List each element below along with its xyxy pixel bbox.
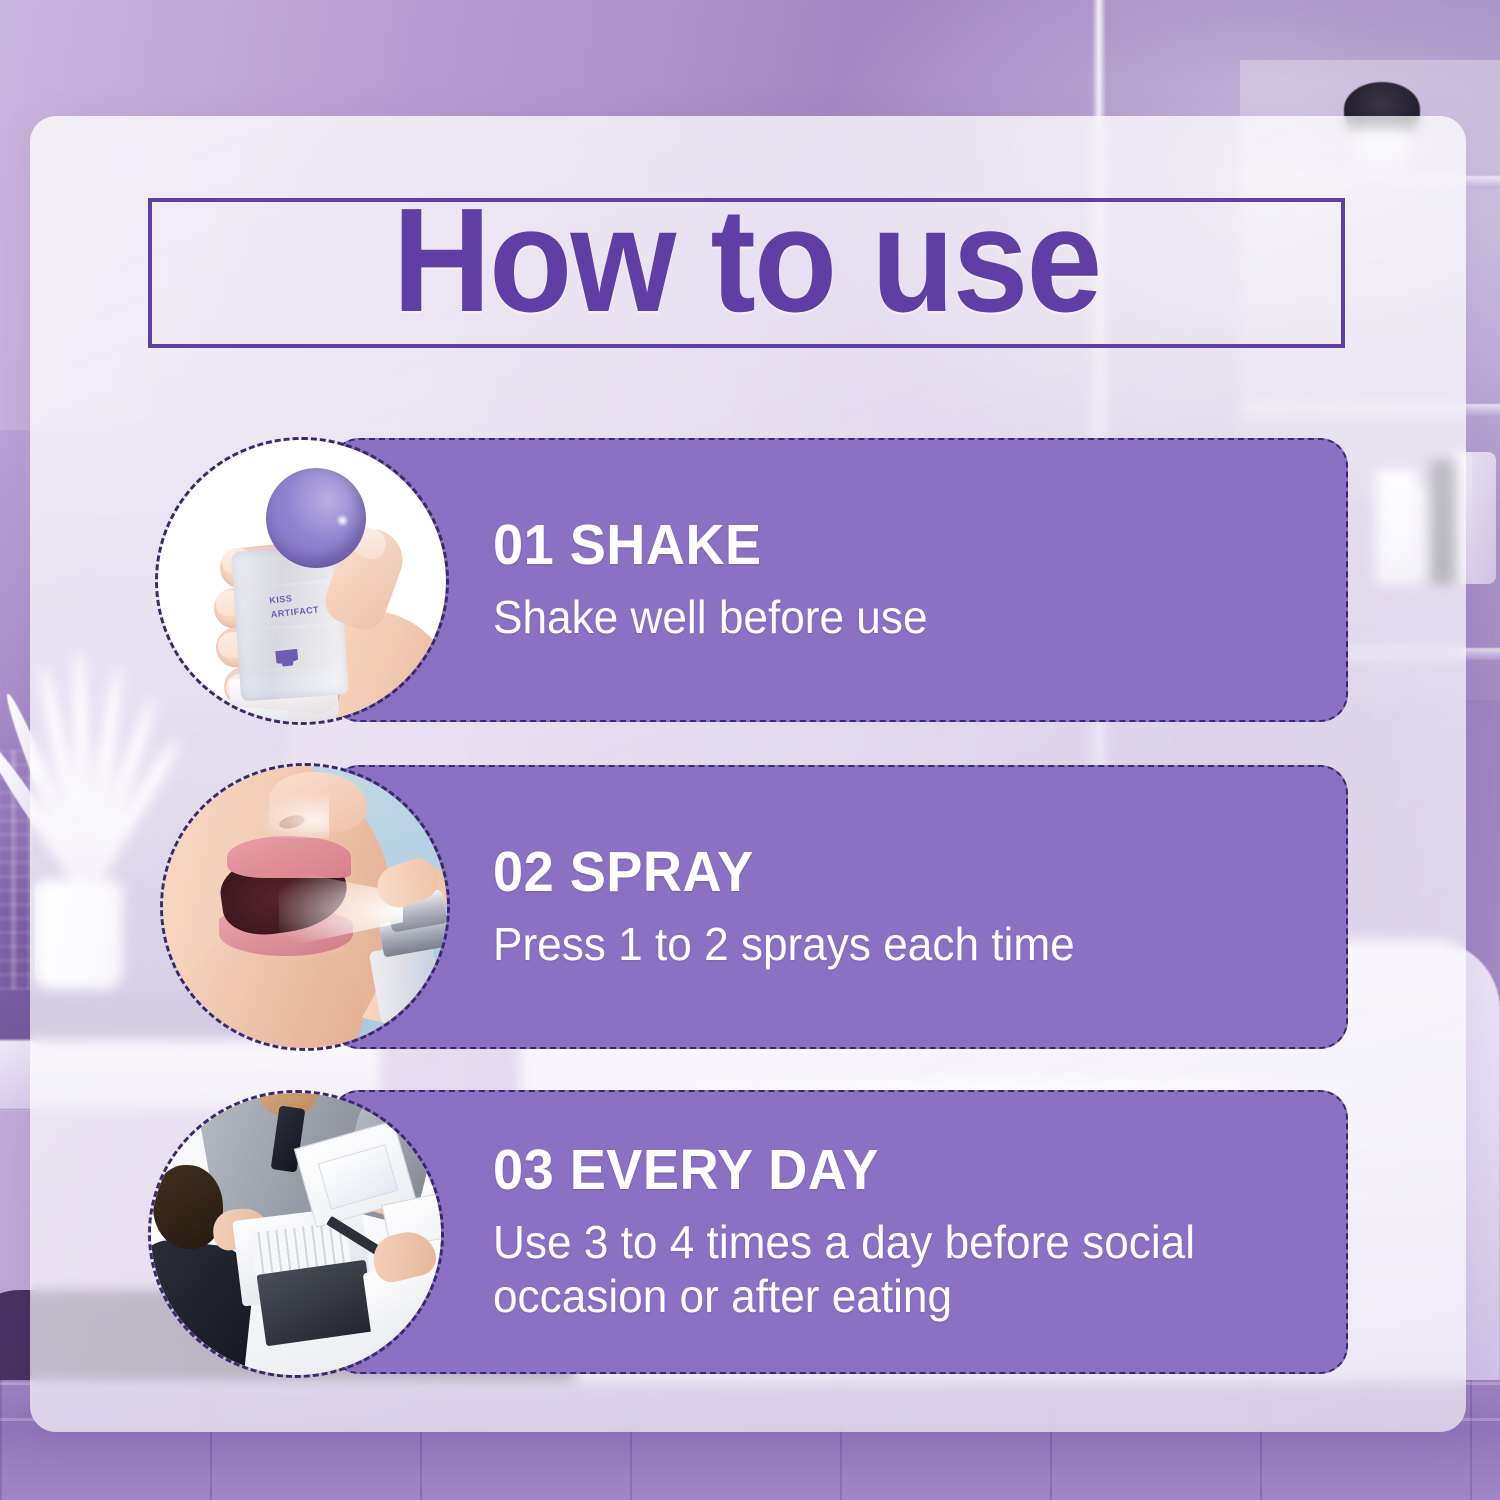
bottle-logo-icon — [275, 649, 299, 667]
step-3-text-block: 03 EVERY DAY Use 3 to 4 times a day befo… — [493, 1092, 1306, 1372]
head-with-dark-hair — [153, 1165, 223, 1249]
spray-bottle — [231, 544, 349, 701]
step-card-3[interactable]: 03 EVERY DAY Use 3 to 4 times a day befo… — [331, 1090, 1348, 1374]
spray-bottle-body — [369, 941, 446, 1029]
bottle-label: KISS ARTIFACT — [269, 590, 320, 622]
step-1-image-hand-holding-spray-bottle: KISS ARTIFACT — [155, 437, 449, 725]
step-card-2[interactable]: 02 SPRAY Press 1 to 2 sprays each time — [331, 765, 1348, 1049]
step-3-image-business-meeting — [148, 1090, 444, 1378]
step-1-title: 01 SHAKE — [493, 516, 1265, 574]
laptop-screen — [257, 1260, 376, 1347]
step-card-1[interactable]: 01 SHAKE Shake well before use — [331, 438, 1348, 722]
step-2-title: 02 SPRAY — [493, 843, 1265, 901]
step-2-image-mouth-being-sprayed — [160, 763, 450, 1051]
page-title-box: How to use — [148, 198, 1345, 348]
spray-mist-wisp — [259, 792, 329, 838]
step-2-description: Press 1 to 2 sprays each time — [493, 917, 1273, 971]
step-1-description: Shake well before use — [493, 590, 1273, 644]
bottle-cap-sphere — [266, 468, 366, 568]
step-1-text-block: 01 SHAKE Shake well before use — [493, 440, 1306, 720]
step-3-description: Use 3 to 4 times a day before social occ… — [493, 1215, 1273, 1324]
page-title: How to use — [200, 190, 1294, 332]
cap-specular-highlight — [336, 514, 349, 527]
step-2-text-block: 02 SPRAY Press 1 to 2 sprays each time — [493, 767, 1306, 1047]
step-3-title: 03 EVERY DAY — [493, 1141, 1265, 1199]
